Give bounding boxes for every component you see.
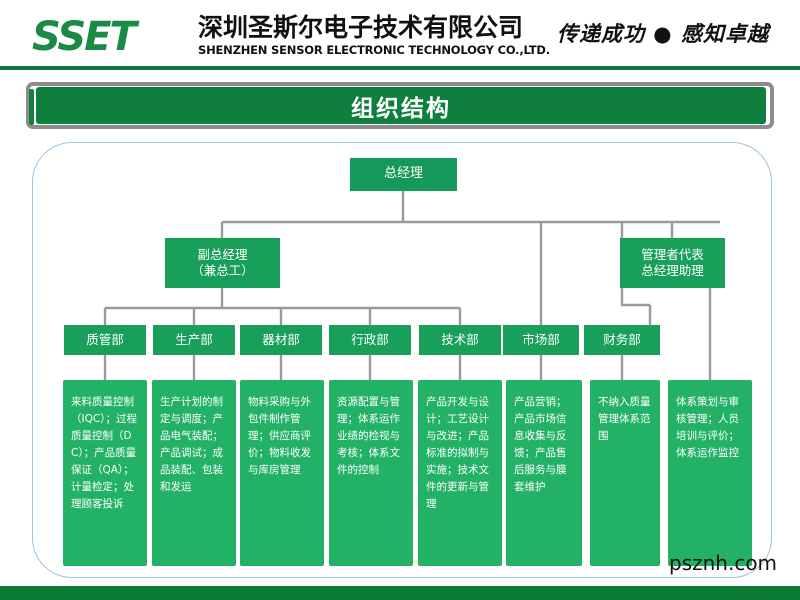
- org-leaf-text: 生产计划的制定与调度；产品电气装配；产品调试；成品装配、包装和发运: [160, 396, 223, 493]
- org-leaf-equipment-duties[interactable]: 物料采购与外包件制作管理；供应商评价；物料收发与库房管理: [240, 380, 324, 566]
- org-leaf-marketing-duties[interactable]: 产品营销；产品市场信息收集与反馈；产品售后服务与膜套维护: [506, 380, 582, 566]
- org-node-dept-production[interactable]: 生产部: [153, 325, 235, 355]
- org-node-dept-finance[interactable]: 财务部: [584, 325, 660, 355]
- org-node-deputy-general-manager[interactable]: 副总经理 （兼总工）: [165, 238, 280, 288]
- org-leaf-text: 产品营销；产品市场信息收集与反馈；产品售后服务与膜套维护: [514, 396, 567, 493]
- watermark: psznh.com: [669, 551, 777, 575]
- org-leaf-text: 物料采购与外包件制作管理；供应商评价；物料收发与库房管理: [248, 396, 311, 476]
- slide-canvas: SSET 深圳圣斯尔电子技术有限公司 SHENZHEN SENSOR ELECT…: [0, 0, 800, 600]
- org-node-label-line2: 总经理助理: [641, 263, 704, 279]
- org-node-dept-quality[interactable]: 质管部: [64, 325, 146, 355]
- org-node-dept-marketing[interactable]: 市场部: [503, 325, 579, 355]
- org-node-label: 器材部: [262, 332, 300, 348]
- org-node-label: 生产部: [175, 332, 213, 348]
- org-chart: 总经理 副总经理 （兼总工） 管理者代表 总经理助理 质管部 生产部 器材部 行…: [0, 0, 800, 600]
- org-leaf-management-rep-duties[interactable]: 体系策划与审核管理；人员培训与评价；体系运作监控: [668, 380, 752, 566]
- org-leaf-technology-duties[interactable]: 产品开发与设计；工艺设计与改进；产品标准的拟制与实施；技术文件的更新与管理: [418, 380, 502, 566]
- org-node-label: 行政部: [351, 332, 389, 348]
- org-leaf-text: 体系策划与审核管理；人员培训与评价；体系运作监控: [676, 396, 739, 459]
- org-node-label-line1: 副总经理: [197, 247, 247, 263]
- org-node-label: 财务部: [603, 332, 641, 348]
- org-node-label: 技术部: [441, 332, 479, 348]
- org-node-general-manager[interactable]: 总经理: [350, 158, 457, 191]
- org-node-dept-administration[interactable]: 行政部: [329, 325, 411, 355]
- org-leaf-administration-duties[interactable]: 资源配置与管理；体系运作业绩的检视与考核；体系文件的控制: [329, 380, 413, 566]
- org-node-dept-technology[interactable]: 技术部: [419, 325, 501, 355]
- org-leaf-finance-duties[interactable]: 不纳入质量管理体系范围: [590, 380, 660, 566]
- org-leaf-text: 资源配置与管理；体系运作业绩的检视与考核；体系文件的控制: [337, 396, 400, 476]
- org-leaf-production-duties[interactable]: 生产计划的制定与调度；产品电气装配；产品调试；成品装配、包装和发运: [152, 380, 236, 566]
- org-node-label: 总经理: [384, 166, 423, 182]
- org-leaf-text: 来料质量控制（IQC）；过程质量控制（DC）；产品质量保证（QA）；计量检定；处…: [71, 396, 137, 510]
- footer-bar: [0, 586, 800, 600]
- org-leaf-quality-duties[interactable]: 来料质量控制（IQC）；过程质量控制（DC）；产品质量保证（QA）；计量检定；处…: [63, 380, 147, 566]
- org-node-label: 质管部: [86, 332, 124, 348]
- org-node-management-representative[interactable]: 管理者代表 总经理助理: [620, 238, 725, 288]
- org-leaf-text: 产品开发与设计；工艺设计与改进；产品标准的拟制与实施；技术文件的更新与管理: [426, 396, 489, 510]
- org-leaf-text: 不纳入质量管理体系范围: [598, 396, 651, 442]
- org-node-label-line2: （兼总工）: [191, 263, 254, 279]
- org-node-label-line1: 管理者代表: [641, 247, 704, 263]
- org-node-label: 市场部: [522, 332, 560, 348]
- org-node-dept-equipment[interactable]: 器材部: [240, 325, 322, 355]
